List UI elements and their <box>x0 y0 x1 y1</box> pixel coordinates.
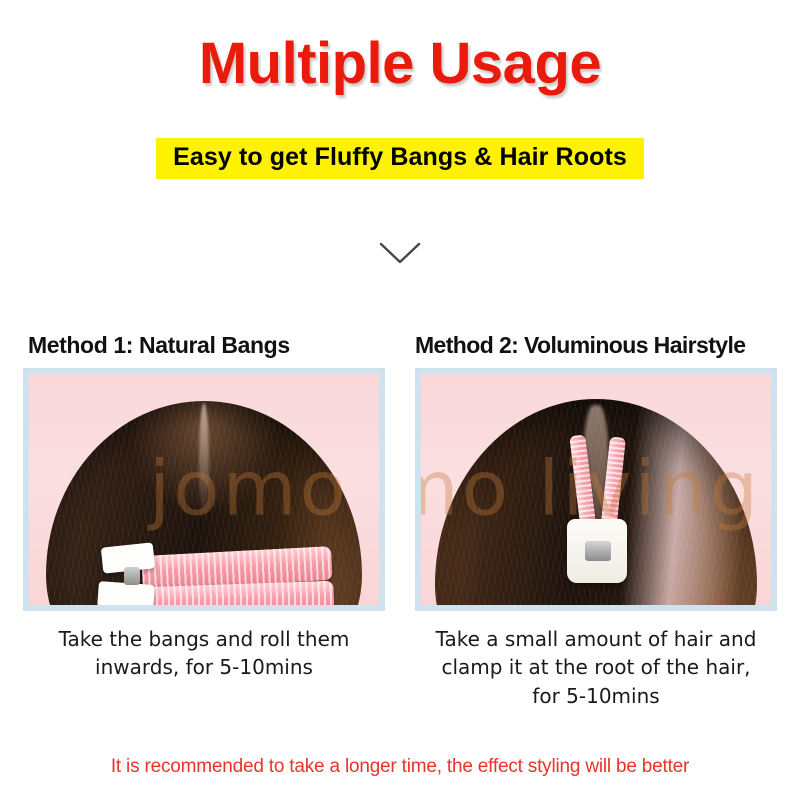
page-title: Multiple Usage <box>0 34 800 95</box>
volume-clip-metal-spring <box>585 541 611 561</box>
method-1-photo-frame: jomo living <box>23 368 385 611</box>
hair-part-line <box>199 403 209 523</box>
method-2-photo: jomo living <box>421 374 771 605</box>
footer-note: It is recommended to take a longer time,… <box>0 756 800 778</box>
method-1-caption: Take the bangs and roll them inwards, fo… <box>34 625 374 682</box>
method-1-heading: Method 1: Natural Bangs <box>28 332 396 359</box>
roller-clip-pin <box>124 567 140 585</box>
hair-illustration-rollers <box>46 401 362 605</box>
method-1-column: Method 1: Natural Bangs jomo living Take… <box>20 332 388 710</box>
chevron-down-icon <box>378 240 422 266</box>
subtitle-banner: Easy to get Fluffy Bangs & Hair Roots <box>156 138 644 179</box>
method-1-photo: jomo living <box>29 374 379 605</box>
method-2-photo-frame: jomo living <box>415 368 777 611</box>
method-2-heading: Method 2: Voluminous Hairstyle <box>415 332 783 359</box>
divider <box>0 240 800 266</box>
methods-container: Method 1: Natural Bangs jomo living Take… <box>0 332 800 710</box>
hair-illustration-clip <box>435 399 757 605</box>
page-root: { "header": { "title": "Multiple Usage",… <box>0 0 800 800</box>
method-2-column: Method 2: Voluminous Hairstyle jomo livi… <box>412 332 780 710</box>
method-2-caption: Take a small amount of hair and clamp it… <box>426 625 766 710</box>
subtitle-container: Easy to get Fluffy Bangs & Hair Roots <box>0 138 800 179</box>
